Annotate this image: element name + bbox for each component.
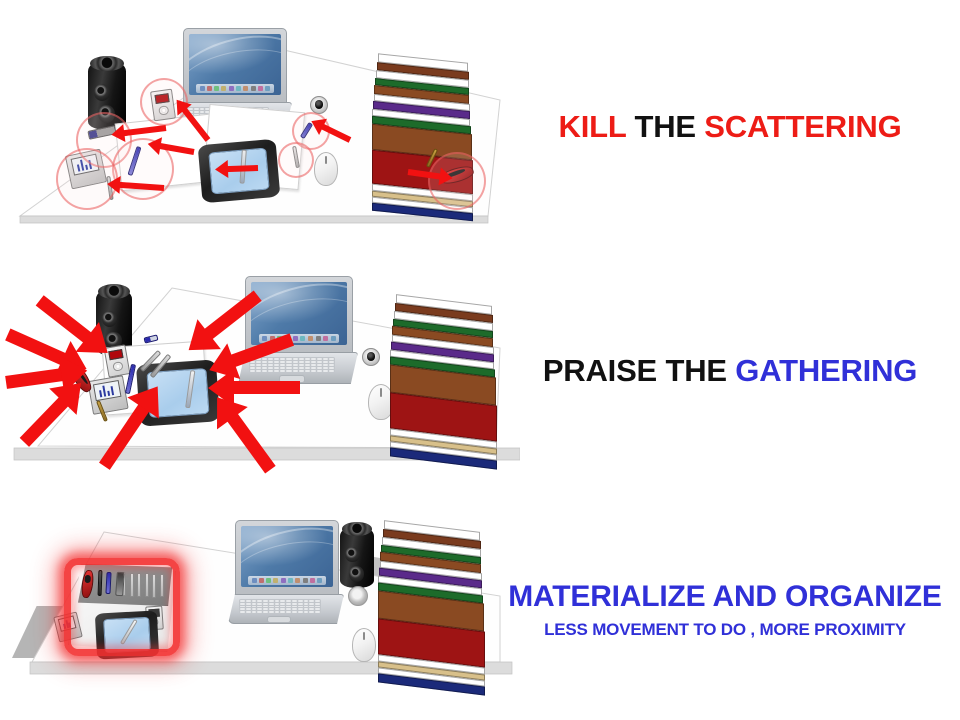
panel-scattered <box>0 0 520 248</box>
speaker-small-organized <box>348 586 368 606</box>
caption-2-word-gathering: GATHERING <box>735 353 917 388</box>
caption-1-word-scattering: SCATTERING <box>704 109 901 144</box>
laptop-organized <box>228 520 344 628</box>
panel-gathered <box>0 248 520 496</box>
caption-3-subtitle: LESS MOVEMENT TO DO , MORE PROXIMITY <box>505 618 945 642</box>
caption-3-headline: MATERIALIZE AND ORGANIZE <box>505 578 945 616</box>
organizer-tray <box>62 554 180 658</box>
organizer-tray-highlight <box>64 558 180 656</box>
arrow-inward-left-lower <box>6 370 93 382</box>
arrow-to-pda <box>106 184 164 188</box>
caption-materialize-and-organize: MATERIALIZE AND ORGANIZE LESS MOVEMENT T… <box>505 578 945 642</box>
scene-organized <box>0 496 520 720</box>
caption-2-headline: PRAISE THE GATHERING <box>510 352 950 390</box>
mouse-organized <box>352 628 376 662</box>
book-stack-organized <box>378 526 490 674</box>
laptop-dock-scattered <box>196 84 273 93</box>
laptop-dock-organized <box>248 576 325 585</box>
slide-canvas: KILL THE SCATTERING PRAISE THE GATHERING… <box>0 0 960 720</box>
caption-1-word-the: THE <box>634 109 695 144</box>
caption-praise-the-gathering: PRAISE THE GATHERING <box>510 352 950 390</box>
scene-gathered <box>0 248 520 496</box>
pen-gathered-cap-blue <box>143 334 158 343</box>
highlight-circle-stapler <box>428 152 486 210</box>
caption-kill-the-scattering: KILL THE SCATTERING <box>510 108 950 146</box>
panel-organized <box>0 496 520 720</box>
mouse-scattered <box>314 152 338 186</box>
arrow-inward-bottom-left <box>24 379 85 442</box>
book-stack-gathered <box>390 300 502 448</box>
highlight-circle-pencil-right <box>278 142 314 178</box>
caption-1-headline: KILL THE SCATTERING <box>510 108 950 146</box>
arrow-inward-bottom-right <box>214 392 270 470</box>
caption-2-word-the: THE <box>665 353 726 388</box>
caption-2-word-praise: PRAISE <box>543 353 657 388</box>
scene-scattered <box>0 0 520 248</box>
speaker-organized <box>340 526 374 588</box>
caption-1-word-kill: KILL <box>559 109 627 144</box>
arrow-to-pencil-right <box>214 168 258 170</box>
webcam-gathered <box>362 348 380 366</box>
